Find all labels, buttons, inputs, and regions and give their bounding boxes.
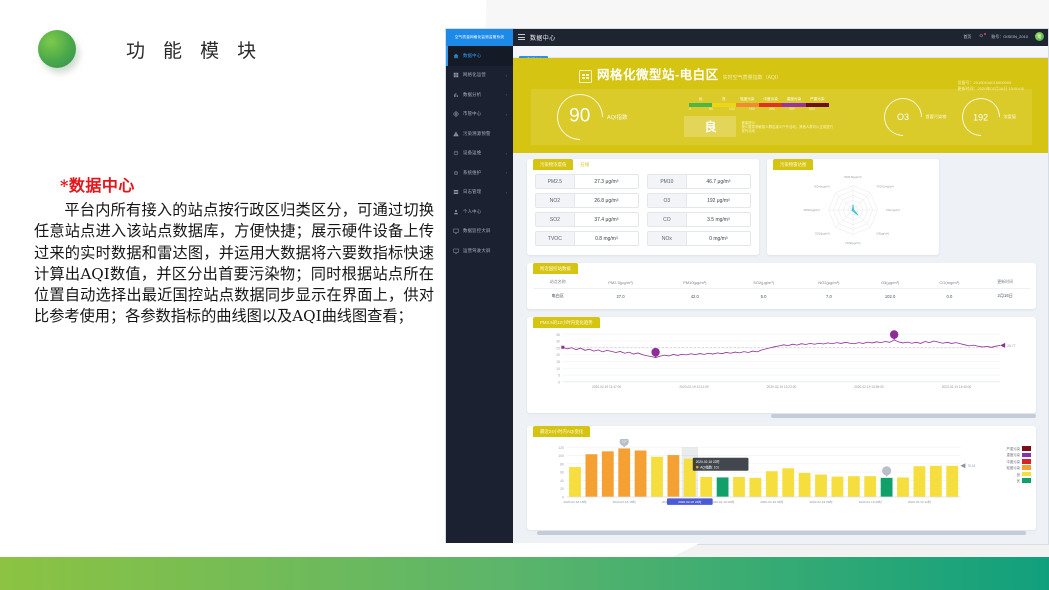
sidebar-nav: 数据中心 网格化运营 › 数据分析 › 市管中心 › 污染溯源预警 设备运维 › <box>446 46 513 545</box>
y-axis-tick: 10 <box>556 367 560 371</box>
health-advice-text: 极少数异常敏感人群应减少户外活动，其他人群可以正常进行室外活动 <box>741 125 833 134</box>
alert-icon <box>453 131 459 137</box>
radar-axis-label: TVOC(mg/m³) <box>876 185 894 189</box>
pm25-line-chart: 0510152025303526.772020-02-19 11:47:0020… <box>533 330 1030 396</box>
table-cell: 7.0 <box>796 289 862 304</box>
chevron-down-icon: › <box>506 170 507 175</box>
bar[interactable] <box>602 451 614 497</box>
topbar-right-group: 首页 ☼ 账号：OISEIN_2010 用 <box>963 32 1044 41</box>
chevron-down-icon: › <box>506 190 507 195</box>
radar-axis-label: O3(μg/m³) <box>876 231 889 235</box>
radar-axis-label: NO2(μg/m³) <box>846 241 861 245</box>
bar[interactable] <box>897 477 909 496</box>
scale-tick: 100 <box>729 107 749 111</box>
sidebar-item-label: 数据分析 <box>463 92 481 98</box>
table-column-header: O3(μg/m³) <box>862 276 919 289</box>
pollutant-item: PM10 46.7 μg/m³ <box>647 174 751 189</box>
sidebar-item-system-maintenance[interactable]: 系统维护 › <box>446 163 513 183</box>
main-content: 数据中心 网格化微型站-电白区 实时空气质量指数（AQI） 设备号：201906… <box>513 46 1049 545</box>
globe-icon <box>453 111 459 117</box>
x-axis-tick: 2020-02-18 18时 <box>613 499 636 504</box>
sidebar-item-data-center[interactable]: 数据中心 <box>446 46 513 66</box>
bar[interactable] <box>717 477 729 496</box>
x-axis-tick: 2020-02-19 06时 <box>809 499 832 504</box>
section-paragraph: 平台内所有接入的站点按行政区归类区分，可通过切换任意站点进入该站点数据库，方便快… <box>34 200 434 328</box>
pollutant-name: PM10 <box>648 175 687 188</box>
bar-max-label: 117 <box>622 440 627 444</box>
legend-swatch <box>1022 446 1031 451</box>
chevron-down-icon: › <box>506 73 507 78</box>
scale-tick: 50 <box>709 107 729 111</box>
y-axis-tick: 80 <box>560 462 564 466</box>
legend-label: 严重污染 <box>1006 446 1020 451</box>
health-advice: 健康提示 极少数异常敏感人群应减少户外活动，其他人群可以正常进行室外活动 <box>741 120 833 134</box>
sidebar-item-analysis[interactable]: 数据分析 › <box>446 85 513 105</box>
series-end-label: 75.18 <box>967 464 975 468</box>
legend-item[interactable]: 良 <box>1006 472 1031 477</box>
y-axis-tick: 0 <box>558 380 560 384</box>
aqi-tabs: 最近24小时内AQI变化 <box>533 426 590 437</box>
tab-pm25-trend[interactable]: PM2.5的12小时内变化趋势 <box>533 317 600 328</box>
aqi-level-row: 良 健康提示 极少数异常敏感人群应减少户外活动，其他人群可以正常进行室外活动 <box>633 116 884 137</box>
sidebar-item-label: 运营驾驶大屏 <box>463 248 491 254</box>
concentration-label: 浓度值 <box>1003 114 1016 120</box>
wrench-icon <box>453 170 459 176</box>
avatar[interactable]: 用 <box>1035 32 1044 41</box>
primary-pollutant-gauge: O3 <box>877 90 931 144</box>
aqi-scale-bar <box>689 103 829 107</box>
concentration-gauge: 192 <box>955 90 1009 144</box>
bar[interactable] <box>733 477 745 497</box>
bar[interactable] <box>864 476 876 497</box>
x-axis-tick: 2020-02-19 11:47:00 <box>592 385 621 389</box>
screen-icon <box>453 228 459 234</box>
pollutant-item: CO 3.5 mg/m³ <box>647 212 751 227</box>
table-column-header: 站点名称 <box>533 276 583 289</box>
pollutant-name: NOx <box>648 232 687 245</box>
left-text-column: 功 能 模 块 *数据中心 平台内所有接入的站点按行政区归类区分，可通过切换任意… <box>0 0 445 556</box>
y-axis-tick: 100 <box>558 454 564 458</box>
scale-tick: 200 <box>769 107 789 111</box>
radar-axis-label: PM10(μg/m³) <box>804 208 821 212</box>
bar[interactable] <box>815 475 827 497</box>
aqi-panel: 90 AQI指数 优 良 轻度污染 中度污染 重度污染 严重污染 <box>531 89 1032 145</box>
aqi-history-card: 最近24小时内AQI变化 严重污染重度污染中度污染轻度污染良优 02040608… <box>527 426 1036 530</box>
footer-white-wedge <box>0 543 700 557</box>
bar[interactable] <box>667 455 679 497</box>
table-cell: 102.0 <box>862 289 919 304</box>
pollutant-item: O3 192 μg/m³ <box>647 193 751 208</box>
legend-label: 良 <box>1017 472 1020 477</box>
table-cell: 2月16日 <box>980 289 1030 304</box>
bar[interactable] <box>832 477 844 497</box>
bar[interactable] <box>766 471 778 497</box>
y-axis-tick: 30 <box>556 340 560 344</box>
x-axis-tick: 2020-02-19 09时 <box>859 499 882 504</box>
x-axis-tick: 2020-02-19 03时 <box>760 499 783 504</box>
pollutant-card: 污染物浓度值 在线 PM2.5 27.3 μg/m³ PM10 46.7 μg/… <box>527 159 759 255</box>
x-axis-tick: 2020-02-19 13:23:00 <box>767 385 797 389</box>
radar-card: 污染物雷达图 PM2.5(μg/m³)TVOC(mg/m³)CO(mg/m³)O… <box>767 159 939 255</box>
tab-aqi-history[interactable]: 最近24小时内AQI变化 <box>533 426 590 437</box>
sidebar-item-pollution-alert[interactable]: 污染溯源预警 <box>446 124 513 144</box>
y-axis-tick: 35 <box>556 333 560 337</box>
bar[interactable] <box>799 473 811 497</box>
pollutant-grid: PM2.5 27.3 μg/m³ PM10 46.7 μg/m³ NO2 26.… <box>535 174 751 246</box>
hamburger-icon[interactable] <box>518 34 525 41</box>
sidebar-item-label: 设备运维 <box>463 150 481 156</box>
scale-label: 轻度污染 <box>736 97 759 102</box>
table-row: 电白区27.042.05.07.0102.00.02月16日 <box>533 289 1030 304</box>
pollutant-value: 3.5 mg/m³ <box>687 213 750 226</box>
dashboard-screenshot: 空气质量网格化监测监管系统 数据中心 首页 ☼ 账号：OISEIN_2010 用… <box>445 28 1049 545</box>
x-axis-tick: 2020-02-19 13:59:00 <box>854 385 884 389</box>
pm25-scroll-thumb[interactable] <box>771 414 1036 418</box>
pollutant-name: SO2 <box>536 213 575 226</box>
sidebar-item-grid-ops[interactable]: 网格化运营 › <box>446 66 513 86</box>
table-column-header: CO(mg/m³) <box>918 276 980 289</box>
avatar-initial: 用 <box>1038 34 1042 40</box>
cards-row: 污染物浓度值 在线 PM2.5 27.3 μg/m³ PM10 46.7 μg/… <box>513 153 1049 255</box>
pollutant-name: O3 <box>648 194 687 207</box>
y-axis-tick: 60 <box>560 471 564 475</box>
scale-tick: 0 <box>689 107 709 111</box>
primary-pollutant-group: O3 首要污染物 <box>884 98 946 136</box>
chevron-down-icon: › <box>506 112 507 117</box>
y-axis-tick: 20 <box>560 487 564 491</box>
log-icon <box>453 189 459 195</box>
radar-tabs: 污染物雷达图 <box>773 159 813 170</box>
primary-pollutant-value: O3 <box>897 112 909 122</box>
aqi-value: 90 <box>569 106 590 128</box>
bar[interactable] <box>635 451 647 497</box>
sidebar-item-label: 数据监控大屏 <box>463 228 491 234</box>
sidebar-item-label: 日志管理 <box>463 189 481 195</box>
chevron-down-icon: › <box>506 151 507 156</box>
legend-item[interactable]: 重度污染 <box>1006 452 1031 457</box>
content-bottom-spacer <box>513 536 1049 544</box>
x-axis-tick: 2020-02-18 15时 <box>563 499 586 504</box>
table-column-header: NO2(μg/m³) <box>796 276 862 289</box>
legend-item[interactable]: 优 <box>1006 478 1031 483</box>
bar[interactable] <box>881 478 893 497</box>
tab-radar[interactable]: 污染物雷达图 <box>773 159 813 170</box>
aqi-scale-group: 优 良 轻度污染 中度污染 重度污染 严重污染 0 50 100 <box>633 97 884 138</box>
x-axis-tick: 2020-02-19 00时 <box>711 499 734 504</box>
bullet-dot-icon <box>38 30 76 68</box>
legend-label: 重度污染 <box>1006 452 1020 457</box>
tooltip-value: AQI指数: 101 <box>700 464 719 469</box>
pollutant-value: 27.3 μg/m³ <box>575 175 638 188</box>
pollutant-item: TVOC 0.8 mg/m³ <box>535 231 639 246</box>
home-icon <box>453 53 459 59</box>
bar[interactable] <box>585 454 597 497</box>
table-column-header: PM10(μg/m³) <box>659 276 732 289</box>
legend-label: 轻度污染 <box>1006 465 1020 470</box>
pollutant-item: NOx 0 mg/m³ <box>647 231 751 246</box>
station-name: 网格化微型站-电白区 <box>597 64 719 83</box>
radar-axis-label: CO(mg/m³) <box>886 208 900 212</box>
y-axis-tick: 25 <box>556 346 560 350</box>
table-column-header: PM2.5(μg/m³) <box>583 276 659 289</box>
pollutant-item: PM2.5 27.3 μg/m³ <box>535 174 639 189</box>
pm25-tabs: PM2.5的12小时内变化趋势 <box>533 317 600 328</box>
radar-axis-label: PM2.5(μg/m³) <box>844 175 861 179</box>
legend-label: 优 <box>1017 478 1020 483</box>
tab-pollutant-values[interactable]: 污染物浓度值 <box>533 159 573 170</box>
aqi-scroll-thumb[interactable] <box>537 531 1026 535</box>
app-topbar: 空气质量网格化监测监管系统 数据中心 首页 ☼ 账号：OISEIN_2010 用 <box>446 29 1049 46</box>
grid-icon <box>453 72 459 78</box>
legend-swatch <box>1022 459 1031 464</box>
concentration-group: 192 浓度值 <box>962 98 1016 136</box>
station-logo-icon <box>579 70 592 83</box>
bar[interactable] <box>946 466 958 497</box>
user-account-label: 账号：OISEIN_2010 <box>991 34 1028 40</box>
sidebar-item-label: 系统维护 <box>463 170 481 176</box>
legend-item[interactable]: 轻度污染 <box>1006 465 1031 470</box>
pm25-scrollbar[interactable] <box>527 414 1036 418</box>
screen-icon <box>453 248 459 254</box>
section-heading: *数据中心 <box>60 172 434 196</box>
sidebar-item-label: 网格化运营 <box>463 72 486 78</box>
x-axis-tick: 2020-02-19 12时 <box>908 499 931 504</box>
pollutant-tabs: 污染物浓度值 在线 <box>533 159 596 170</box>
y-axis-tick: 20 <box>556 353 560 357</box>
radar-axis-label: NOx(mg/m³) <box>814 185 830 189</box>
bar[interactable] <box>848 476 860 497</box>
national-station-card: 附近国控站数据 站点名称PM2.5(μg/m³)PM10(μg/m³)SO2(μ… <box>527 263 1036 309</box>
table-cell: 27.0 <box>583 289 659 304</box>
primary-pollutant-label: 首要污染物 <box>925 114 946 120</box>
table-cell: 电白区 <box>533 289 583 304</box>
bell-icon[interactable]: ☼ <box>978 33 984 40</box>
table-cell: 5.0 <box>731 289 796 304</box>
scale-label: 中度污染 <box>759 97 782 102</box>
legend-item[interactable]: 严重污染 <box>1006 446 1031 451</box>
bar[interactable] <box>782 468 794 497</box>
pollutant-item: SO2 37.4 μg/m³ <box>535 212 639 227</box>
sidebar-item-label: 个人中心 <box>463 209 481 215</box>
aqi-scrollbar[interactable] <box>527 531 1036 535</box>
pollutant-name: CO <box>648 213 687 226</box>
user-icon <box>453 209 459 215</box>
legend-swatch <box>1022 472 1031 477</box>
sidebar-item-label: 污染溯源预警 <box>463 131 491 137</box>
selected-axis-label: 2020-02-18 22时 <box>678 499 701 504</box>
pollutant-value: 46.7 μg/m³ <box>687 175 750 188</box>
legend-swatch <box>1022 453 1031 458</box>
scale-tick: 500 <box>809 107 829 111</box>
pollutant-value: 26.8 μg/m³ <box>575 194 638 207</box>
pollutant-name: NO2 <box>536 194 575 207</box>
app-brand: 空气质量网格化监测监管系统 <box>446 29 513 46</box>
sidebar-item-label: 市管中心 <box>463 111 481 117</box>
tooltip-time: 2020-02-18 22时 <box>696 459 721 464</box>
y-axis-tick: 120 <box>558 446 564 450</box>
pollutant-value: 192 μg/m³ <box>687 194 750 207</box>
y-axis-tick: 15 <box>556 360 560 364</box>
aqi-level-badge: 良 <box>684 116 736 137</box>
scale-label: 重度污染 <box>782 97 805 102</box>
slide-title-row: 功 能 模 块 <box>38 30 262 68</box>
page-title: 功 能 模 块 <box>126 36 262 63</box>
pollutant-name: TVOC <box>536 232 575 245</box>
scale-label: 优 <box>689 97 712 102</box>
y-axis-tick: 5 <box>558 374 560 378</box>
sidebar-item-label: 数据中心 <box>463 53 481 59</box>
legend-swatch <box>1022 465 1031 470</box>
legend-label: 中度污染 <box>1006 459 1020 464</box>
pollutant-name: PM2.5 <box>536 175 575 188</box>
table-cell: 0.0 <box>918 289 980 304</box>
home-link[interactable]: 首页 <box>963 34 971 40</box>
scale-tick: 300 <box>789 107 809 111</box>
y-axis-tick: 40 <box>560 479 564 483</box>
national-station-table: 站点名称PM2.5(μg/m³)PM10(μg/m³)SO2(μg/m³)NO2… <box>533 276 1030 303</box>
pollutant-value: 37.4 μg/m³ <box>575 213 638 226</box>
sidebar-item-personal-center[interactable]: 个人中心 <box>446 202 513 222</box>
chart-icon <box>453 92 459 98</box>
bar[interactable] <box>618 448 630 496</box>
radar-axis-label: SO2(μg/m³) <box>815 231 830 235</box>
tab-online[interactable]: 在线 <box>573 159 596 170</box>
aqi-gauge: 90 <box>547 84 612 149</box>
pollutant-item: NO2 26.8 μg/m³ <box>535 193 639 208</box>
pm25-trend-card: PM2.5的12小时内变化趋势 0510152025303526.772020-… <box>527 317 1036 413</box>
national-station-tabs: 附近国控站数据 <box>533 263 578 274</box>
aqi-scale-ticks: 0 50 100 150 200 300 500 <box>689 107 829 111</box>
concentration-value: 192 <box>974 112 989 122</box>
aqi-scale-labels: 优 良 轻度污染 中度污染 重度污染 严重污染 <box>689 97 829 102</box>
bar[interactable] <box>914 466 926 497</box>
body-text-block: *数据中心 平台内所有接入的站点按行政区归类区分，可通过切换任意站点进入该站点数… <box>34 172 434 328</box>
table-cell: 42.0 <box>659 289 732 304</box>
aqi-legend: 严重污染重度污染中度污染轻度污染良优 <box>1006 446 1031 484</box>
x-axis-tick: 2020-02-19 14:40:00 <box>942 385 972 389</box>
aqi-bar-chart: 0204060801001201172020-02-18 15时2020-02-… <box>533 439 1030 519</box>
legend-item[interactable]: 中度污染 <box>1006 459 1031 464</box>
sidebar-item-device-ops[interactable]: 设备运维 › <box>446 144 513 164</box>
scale-tick: 150 <box>749 107 769 111</box>
bar[interactable] <box>569 467 581 497</box>
station-subtitle: 实时空气质量指数（AQI） <box>723 74 782 81</box>
device-icon <box>453 150 459 156</box>
topbar-title: 数据中心 <box>530 33 556 42</box>
footer-band <box>0 557 1049 590</box>
legend-swatch <box>1022 478 1031 483</box>
sidebar-item-ops-dashboard-screen[interactable]: 运营驾驶大屏 <box>446 241 513 261</box>
scale-label: 严重污染 <box>806 97 829 102</box>
sidebar-item-data-monitor-screen[interactable]: 数据监控大屏 <box>446 222 513 242</box>
bar[interactable] <box>651 457 663 497</box>
bar[interactable] <box>700 477 712 497</box>
aqi-value-label: AQI指数 <box>607 113 627 121</box>
tab-national-station[interactable]: 附近国控站数据 <box>533 263 578 274</box>
x-axis-tick: 2020-02-19 12:11:00 <box>679 385 708 389</box>
scale-label: 良 <box>712 97 735 102</box>
table-header-row: 站点名称PM2.5(μg/m³)PM10(μg/m³)SO2(μg/m³)NO2… <box>533 276 1030 289</box>
table-column-header: 更新时间 <box>980 276 1030 289</box>
breadcrumb-bar: 数据中心 <box>513 46 1049 58</box>
bar[interactable] <box>930 466 942 497</box>
bar[interactable] <box>750 478 762 497</box>
aqi-banner: 网格化微型站-电白区 实时空气质量指数（AQI） 设备号：20190616015… <box>513 58 1049 153</box>
series-end-label: 26.77 <box>1007 344 1016 348</box>
sidebar-item-city-center[interactable]: 市管中心 › <box>446 105 513 125</box>
chevron-down-icon: › <box>506 92 507 97</box>
radar-chart: PM2.5(μg/m³)TVOC(mg/m³)CO(mg/m³)O3(μg/m³… <box>772 172 934 250</box>
pollutant-value: 0 mg/m³ <box>687 232 750 245</box>
pollutant-value: 0.8 mg/m³ <box>575 232 638 245</box>
sidebar-item-log-management[interactable]: 日志管理 › <box>446 183 513 203</box>
table-column-header: SO2(μg/m³) <box>731 276 796 289</box>
